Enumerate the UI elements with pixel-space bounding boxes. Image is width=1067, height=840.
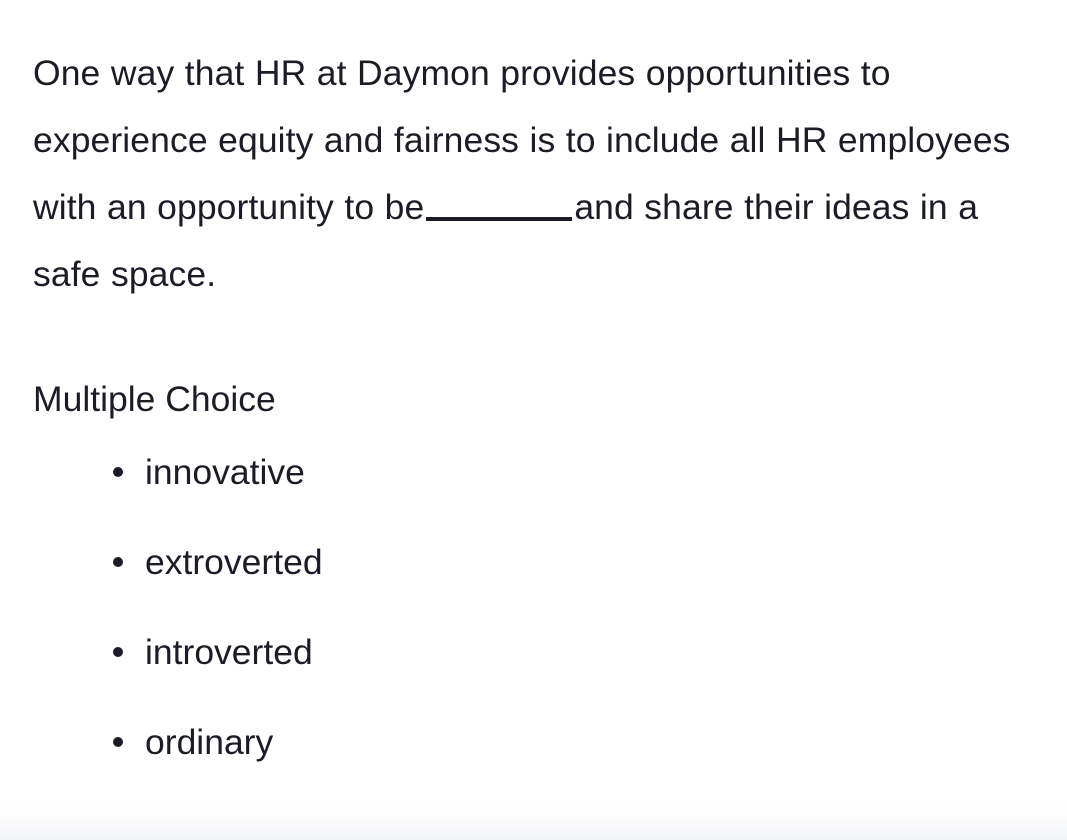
answer-option-label: ordinary xyxy=(145,718,273,766)
answer-options-list: innovative extroverted introverted ordin… xyxy=(33,448,933,808)
bullet-icon xyxy=(113,647,123,657)
answer-option-label: innovative xyxy=(145,448,305,496)
answer-option-label: extroverted xyxy=(145,538,323,586)
answer-option-ordinary[interactable]: ordinary xyxy=(33,718,933,808)
answer-option-label: introverted xyxy=(145,628,313,676)
answer-option-introverted[interactable]: introverted xyxy=(33,628,933,718)
bullet-icon xyxy=(113,737,123,747)
answer-blank-underline xyxy=(426,217,572,221)
answer-option-extroverted[interactable]: extroverted xyxy=(33,538,933,628)
bottom-edge-strip xyxy=(0,804,1067,840)
question-stem: One way that HR at Daymon provides oppor… xyxy=(33,40,1028,308)
question-text: One way that HR at Daymon provides oppor… xyxy=(33,40,1028,308)
bullet-icon xyxy=(113,467,123,477)
answer-type-label: Multiple Choice xyxy=(33,377,276,421)
bullet-icon xyxy=(113,557,123,567)
question-page: One way that HR at Daymon provides oppor… xyxy=(0,0,1067,840)
answer-option-innovative[interactable]: innovative xyxy=(33,448,933,538)
